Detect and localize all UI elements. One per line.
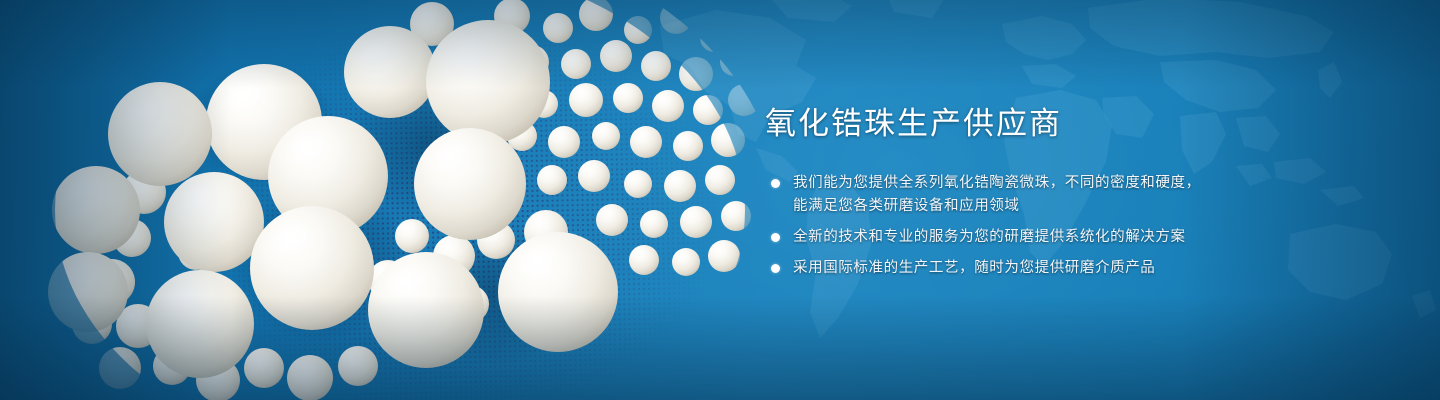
hero-banner: 氧化锆珠生产供应商 我们能为您提供全系列氧化锆陶瓷微珠，不同的密度和硬度， 能满… bbox=[0, 0, 1440, 400]
banner-vignette bbox=[0, 0, 1440, 400]
